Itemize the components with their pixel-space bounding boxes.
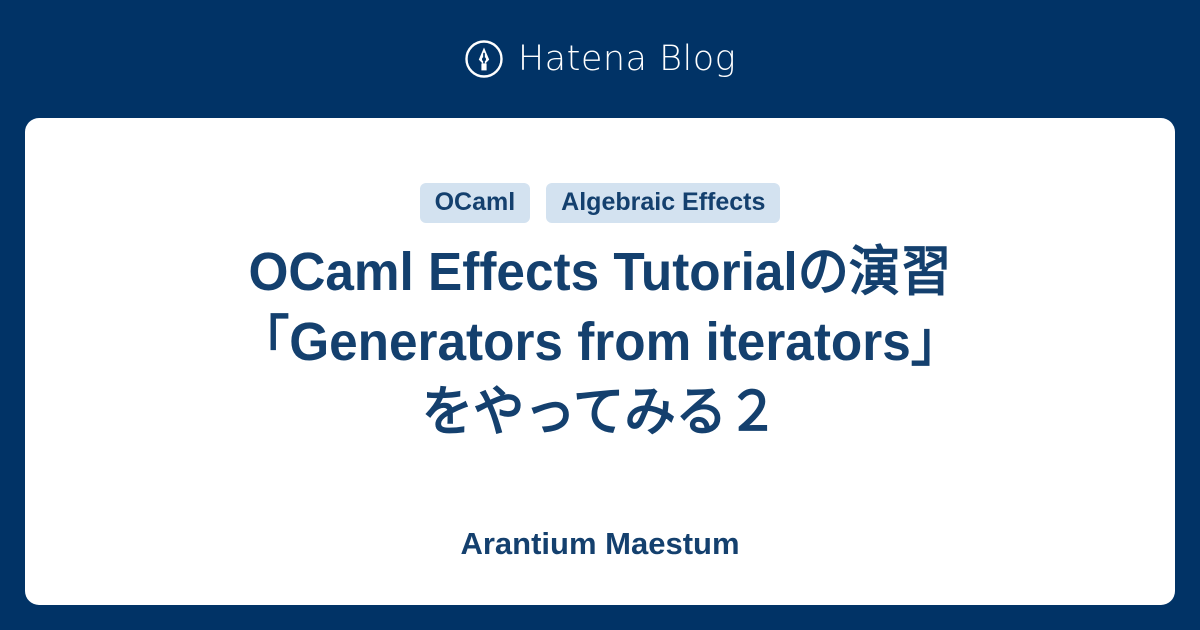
brand-header: Hatena Blog — [0, 0, 1200, 118]
entry-title-line-3: をやってみる２ — [116, 377, 1085, 447]
entry-card: OCaml Algebraic Effects OCaml Effects Tu… — [25, 118, 1175, 605]
brand-name: Hatena Blog — [518, 42, 736, 77]
hatena-blog-logo — [464, 39, 504, 79]
tag-list: OCaml Algebraic Effects — [420, 183, 781, 223]
entry-title-line-2: 「Generators from iterators」 — [116, 307, 1085, 377]
entry-title-line-1: OCaml Effects Tutorialの演習 — [116, 237, 1085, 307]
fountain-pen-nib-in-circle-icon — [464, 39, 504, 79]
tag-ocaml[interactable]: OCaml — [420, 183, 531, 223]
entry-title: OCaml Effects Tutorialの演習 「Generators fr… — [116, 237, 1085, 447]
tag-algebraic-effects[interactable]: Algebraic Effects — [546, 183, 780, 223]
blog-name: Arantium Maestum — [460, 525, 739, 563]
hatena-blog-og-card: Hatena Blog OCaml Algebraic Effects OCam… — [0, 0, 1200, 630]
